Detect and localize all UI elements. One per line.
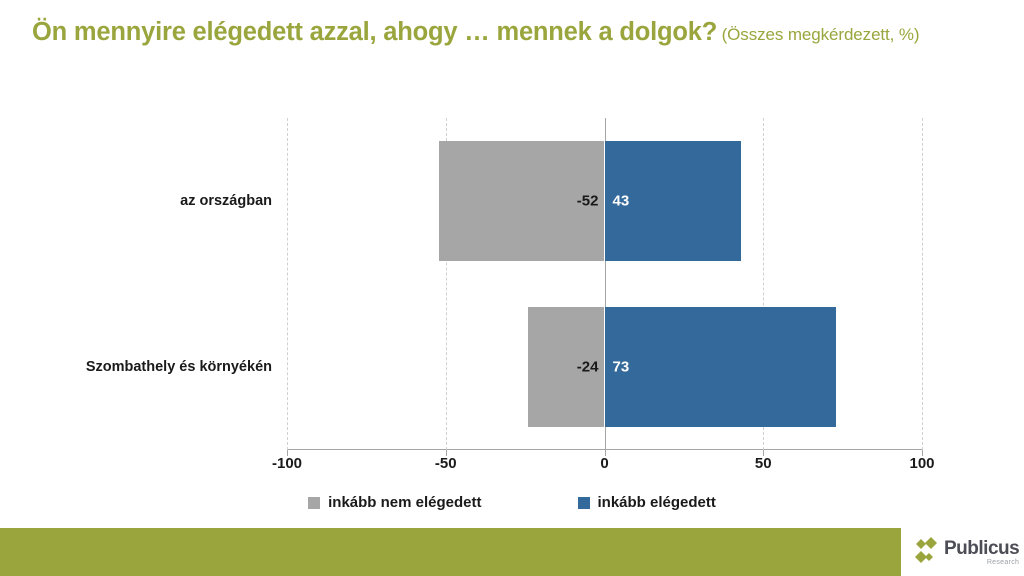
bar-group: -2473: [287, 307, 922, 427]
bar-segment[interactable]: -52: [439, 141, 604, 261]
legend-item[interactable]: inkább elégedett: [578, 494, 716, 511]
category-label: az országban: [12, 193, 272, 209]
chart-legend: inkább nem elégedettinkább elégedett: [0, 494, 1024, 511]
x-tick-label: 0: [600, 455, 608, 472]
bar-segment[interactable]: -24: [528, 307, 604, 427]
y-axis-category-labels: az országbanSzombathely és környékén: [10, 118, 272, 450]
x-axis-tick-labels: -100-50050100: [287, 455, 922, 479]
logo-name: Publicus: [944, 539, 1019, 558]
footer: Publicus Research: [0, 528, 1024, 576]
bar-value-label: 73: [613, 359, 630, 376]
bar-group: -5243: [287, 141, 922, 261]
x-tick-label: 100: [909, 455, 934, 472]
legend-item[interactable]: inkább nem elégedett: [308, 494, 481, 511]
bar-value-label: -24: [577, 359, 599, 376]
legend-swatch-negative: [308, 497, 320, 509]
chart-canvas: az országbanSzombathely és környékén -52…: [0, 0, 1024, 520]
x-tick-label: -50: [435, 455, 457, 472]
brand-logo: Publicus Research: [901, 528, 1024, 576]
legend-swatch-positive: [578, 497, 590, 509]
logo-text: Publicus Research: [944, 539, 1019, 566]
footer-green-bar: [0, 528, 901, 576]
logo-tagline: Research: [944, 559, 1019, 566]
gridline-100: [922, 118, 923, 450]
legend-label: inkább elégedett: [598, 494, 716, 511]
plot-area: -5243-2473: [287, 118, 922, 450]
bar-value-label: -52: [577, 193, 599, 210]
bar-value-label: 43: [613, 193, 630, 210]
publicus-diamond-icon: [915, 537, 941, 567]
bar-segment[interactable]: 43: [605, 141, 742, 261]
category-label: Szombathely és környékén: [12, 359, 272, 375]
x-tick-label: -100: [272, 455, 302, 472]
x-tick-label: 50: [755, 455, 772, 472]
legend-label: inkább nem elégedett: [328, 494, 481, 511]
bar-segment[interactable]: 73: [605, 307, 837, 427]
